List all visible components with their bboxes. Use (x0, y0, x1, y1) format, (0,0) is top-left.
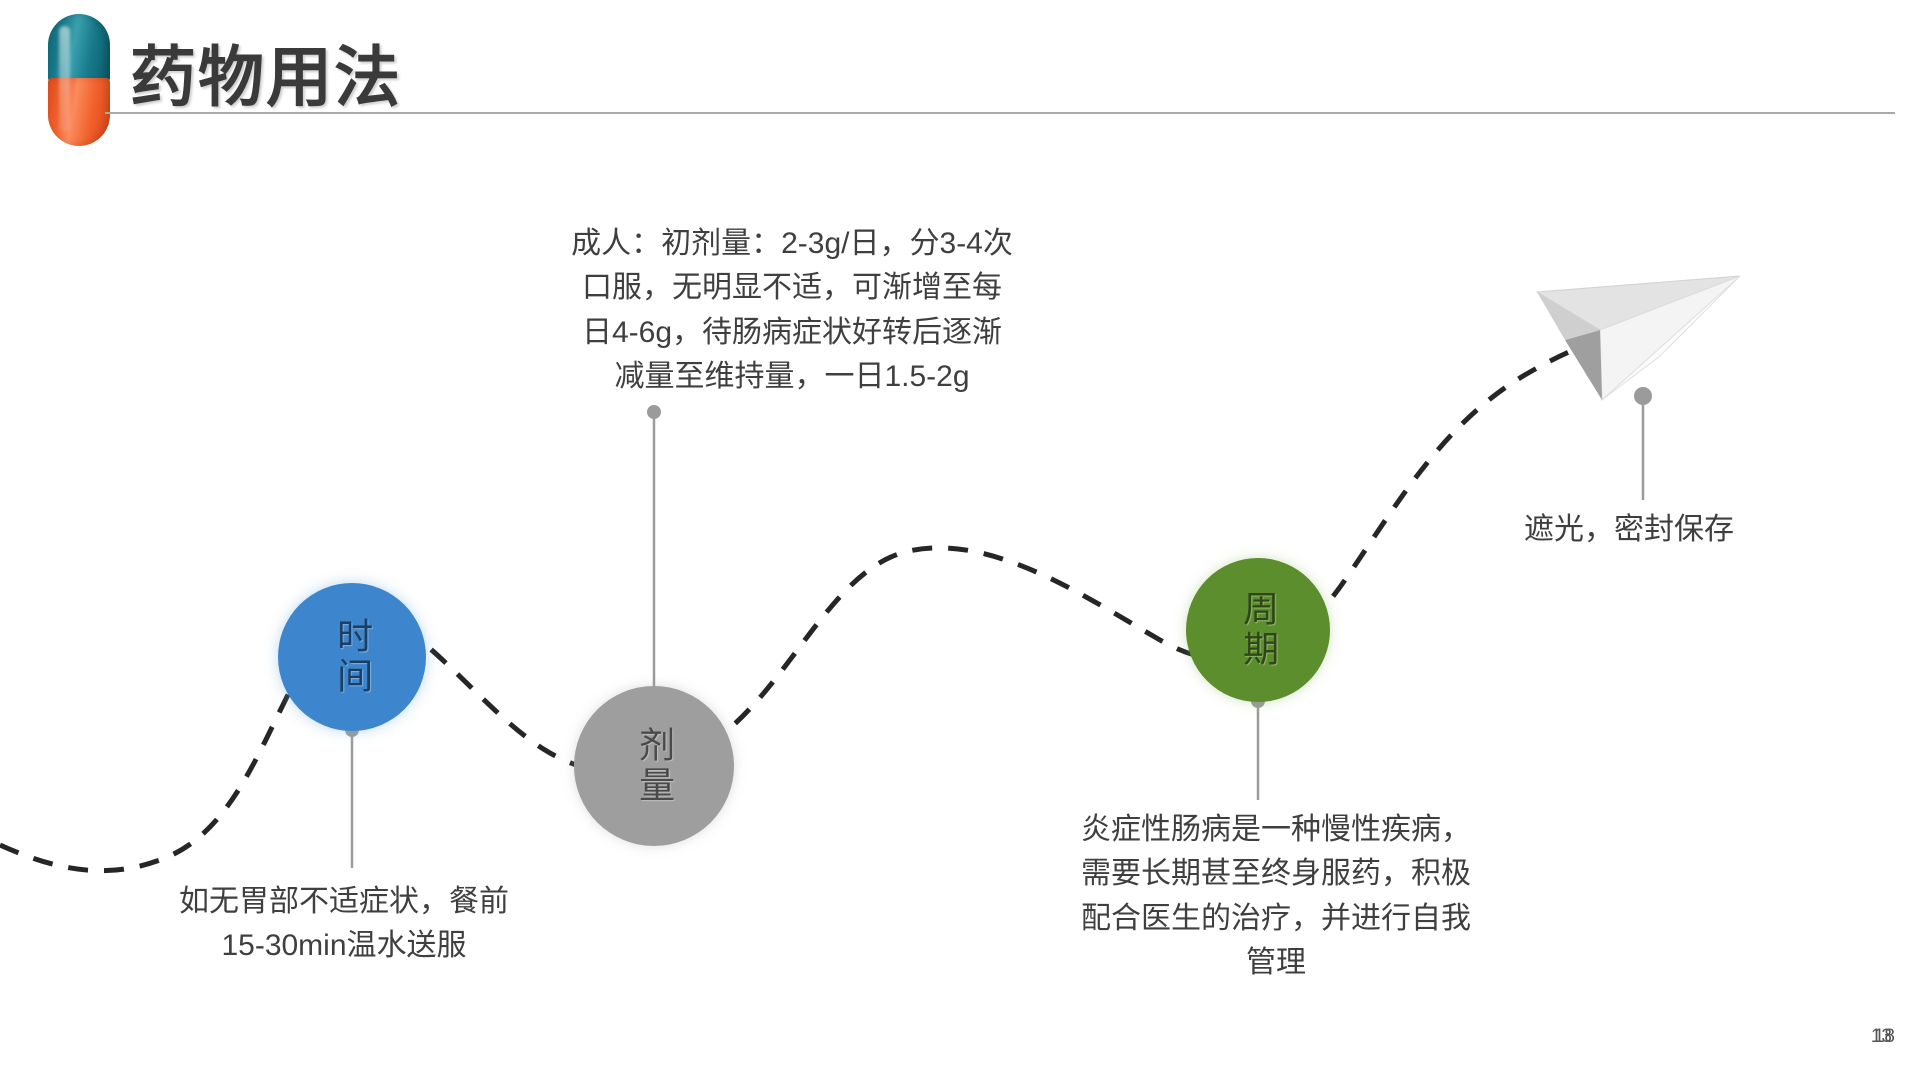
paper-plane-icon (1537, 276, 1740, 400)
callout-cycle: 炎症性肠病是一种慢性疾病，需要长期甚至终身服药，积极配合医生的治疗，并进行自我管… (1076, 808, 1476, 986)
callout-timing: 如无胃部不适症状，餐前15-30min温水送服 (168, 880, 520, 969)
dashed-wave-path (0, 334, 1630, 871)
page-number-overlay: 18 (1874, 1026, 1895, 1048)
node-dose-label: 剂量 (634, 726, 674, 806)
node-cycle-label: 周期 (1238, 590, 1278, 670)
connector-dot-dose (647, 405, 661, 419)
node-cycle[interactable]: 周期 (1186, 558, 1330, 702)
callout-storage: 遮光，密封保存 (1524, 508, 1784, 552)
node-time[interactable]: 时间 (278, 583, 426, 731)
slide-root: 药物用法 时间 剂量 周期 成 (0, 0, 1920, 1080)
callout-dosage: 成人：初剂量：2-3g/日，分3-4次口服，无明显不适，可渐增至每日4-6g，待… (568, 222, 1016, 400)
node-time-label: 时间 (332, 617, 372, 697)
page-number: 13 18 (1871, 1026, 1892, 1048)
connector-dot-store (1634, 387, 1652, 405)
node-dose[interactable]: 剂量 (574, 686, 734, 846)
